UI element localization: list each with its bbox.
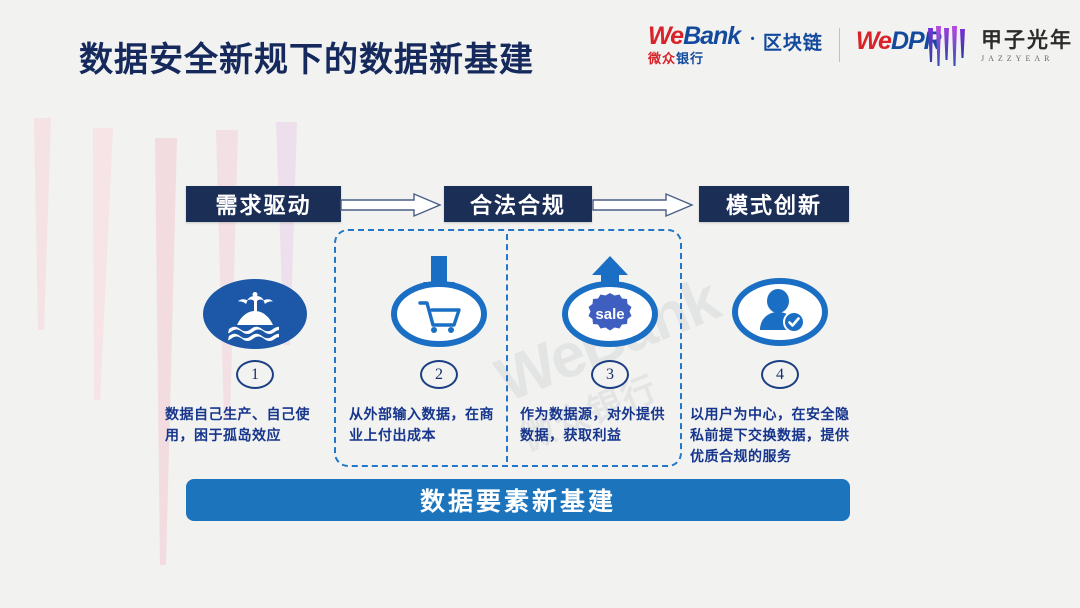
step-number-1: 1 bbox=[236, 360, 274, 389]
streak-2 bbox=[93, 128, 113, 400]
step-caption-3: 作为数据源，对外提供数据，获取利益 bbox=[520, 405, 672, 447]
flow-arrow-2-icon bbox=[592, 192, 694, 218]
flow-column-4: 4 以用户为中心，在安全隐私前提下交换数据，提供优质合规的服务 bbox=[690, 248, 870, 468]
flow-column-3: sale 3 作为数据源，对外提供数据，获取利益 bbox=[520, 248, 700, 447]
flow-stage-demand-driven: 需求驱动 bbox=[186, 186, 341, 222]
wedpr-we-text: We bbox=[856, 27, 891, 55]
step-number-3: 3 bbox=[591, 360, 629, 389]
streak-1 bbox=[34, 118, 51, 330]
webank-we-text: We bbox=[648, 22, 683, 50]
cart-download-icon bbox=[383, 252, 495, 352]
webank-bank-text: Bank bbox=[683, 22, 740, 50]
webank-cn-a-text: 微众 bbox=[648, 51, 676, 66]
webank-logo: WeBank 微众银行 · 区块链 WeDPR bbox=[648, 24, 941, 65]
flow-stage-model-innovation: 模式创新 bbox=[699, 186, 849, 222]
sale-upload-icon: sale bbox=[554, 252, 666, 352]
icon-wrap-3: sale bbox=[520, 248, 700, 352]
step-number-2: 2 bbox=[420, 360, 458, 389]
step-caption-4: 以用户为中心，在安全隐私前提下交换数据，提供优质合规的服务 bbox=[690, 405, 858, 468]
jazzyear-cn-text: 甲子光年 bbox=[981, 29, 1073, 50]
blockchain-label: 区块链 bbox=[763, 28, 823, 61]
webank-latin-row: WeBank bbox=[648, 24, 740, 49]
flow-arrow-1-icon bbox=[340, 192, 442, 218]
jazzyear-en-text: JAZZYEAR bbox=[981, 55, 1073, 63]
island-icon bbox=[199, 272, 311, 352]
icon-wrap-4 bbox=[690, 248, 870, 352]
user-verified-icon bbox=[724, 268, 836, 352]
svg-text:sale: sale bbox=[595, 306, 624, 323]
page-title: 数据安全新规下的数据新基建 bbox=[79, 32, 534, 81]
icon-wrap-1 bbox=[165, 248, 345, 352]
jazzyear-bars-icon bbox=[925, 22, 971, 70]
jazzyear-wordmark: 甲子光年 JAZZYEAR bbox=[981, 29, 1073, 63]
bottom-banner: 数据要素新基建 bbox=[186, 479, 850, 521]
webank-chinese-row: 微众银行 bbox=[648, 52, 740, 65]
step-caption-1: 数据自己生产、自己使用，困于孤岛效应 bbox=[165, 405, 315, 447]
webank-cn-b-text: 银行 bbox=[676, 51, 704, 66]
separator-dot-icon: · bbox=[749, 28, 756, 61]
webank-wordmark: WeBank 微众银行 bbox=[648, 24, 740, 65]
jazzyear-logo: 甲子光年 JAZZYEAR bbox=[925, 22, 1073, 70]
slide-header: 数据安全新规下的数据新基建 WeBank 微众银行 · 区块链 WeDPR bbox=[0, 0, 1080, 96]
flow-stage-legal-compliance: 合法合规 bbox=[444, 186, 592, 222]
step-caption-2: 从外部输入数据，在商业上付出成本 bbox=[349, 405, 495, 447]
icon-wrap-2 bbox=[349, 248, 529, 352]
step-number-4: 4 bbox=[761, 360, 799, 389]
flow-column-2: 2 从外部输入数据，在商业上付出成本 bbox=[349, 248, 529, 447]
flow-column-1: 1 数据自己生产、自己使用，困于孤岛效应 bbox=[165, 248, 345, 447]
logo-divider bbox=[839, 28, 840, 62]
